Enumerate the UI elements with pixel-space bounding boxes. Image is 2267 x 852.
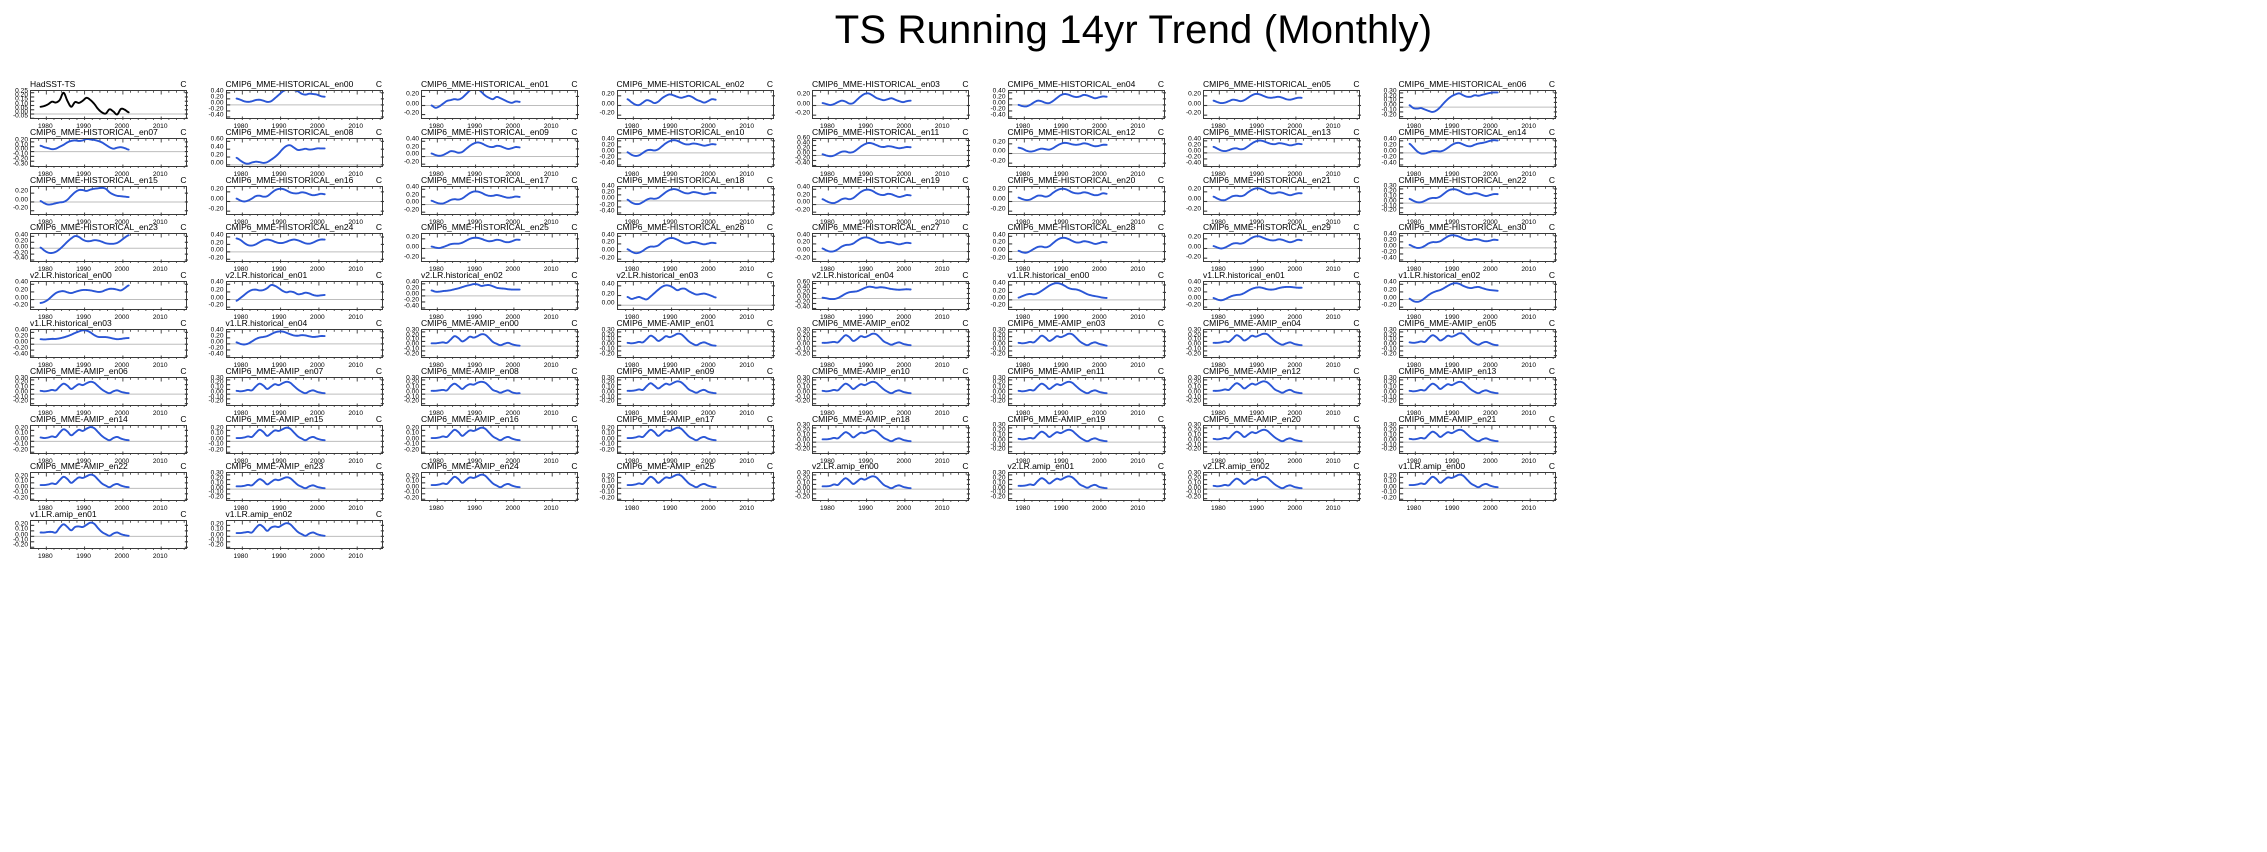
panel-title: CMIP6_MME-HISTORICAL_en29 — [1203, 222, 1331, 232]
panel-title: CMIP6_MME-AMIP_en08 — [421, 366, 519, 376]
y-tick-label: 0.00 — [1188, 148, 1201, 155]
panel-title: HadSST-TS — [30, 79, 75, 89]
y-axis-labels: -0.200.000.200.40 — [786, 233, 810, 262]
plot-area — [1008, 186, 1165, 215]
y-tick-label: -0.40 — [404, 304, 419, 311]
plot-area — [30, 90, 187, 119]
series-line — [1409, 382, 1497, 393]
y-tick-label: 0.00 — [1188, 245, 1201, 252]
panel-unit-label: C — [180, 175, 186, 185]
y-tick-label: 0.40 — [602, 282, 615, 289]
y-tick-label: -0.20 — [599, 111, 614, 118]
panel-unit-label: C — [962, 127, 968, 137]
y-tick-label: 0.30 — [1384, 423, 1397, 430]
y-axis-labels: -0.200.000.20 — [1177, 233, 1201, 262]
plot-area — [1399, 472, 1556, 501]
x-tick-label: 2010 — [739, 505, 754, 512]
y-tick-label: 0.40 — [993, 88, 1006, 95]
y-tick-label: 0.00 — [797, 200, 810, 207]
plot-area — [421, 233, 578, 262]
y-axis-labels: -0.20-0.100.000.100.20 — [395, 472, 419, 501]
y-tick-label: 0.20 — [993, 288, 1006, 295]
x-tick-label: 2010 — [1521, 458, 1536, 465]
panel-title: CMIP6_MME-AMIP_en09 — [617, 366, 715, 376]
x-tick-label: 2010 — [348, 553, 363, 560]
y-tick-label: 0.30 — [1188, 471, 1201, 478]
y-tick-label: 0.40 — [211, 327, 224, 334]
y-tick-label: -0.20 — [1381, 250, 1396, 257]
plot-area — [812, 472, 969, 501]
y-tick-label: 0.20 — [1384, 288, 1397, 295]
y-tick-label: 0.20 — [602, 92, 615, 99]
y-tick-label: 0.20 — [211, 240, 224, 247]
y-tick-label: -0.20 — [208, 255, 223, 262]
y-axis-labels: -0.20-0.100.000.100.200.30 — [1177, 425, 1201, 454]
plot-area — [812, 377, 969, 406]
y-tick-label: 0.20 — [211, 153, 224, 160]
panel-unit-label: C — [1549, 127, 1555, 137]
x-tick-label: 2010 — [1130, 458, 1145, 465]
y-tick-label: 0.40 — [15, 232, 28, 239]
x-tick-label: 2010 — [1521, 410, 1536, 417]
panel-title: CMIP6_MME-AMIP_en19 — [1008, 414, 1106, 424]
x-tick-label: 2000 — [506, 266, 521, 273]
y-tick-label: 0.40 — [797, 185, 810, 192]
panel-unit-label: C — [767, 318, 773, 328]
y-axis-labels: -0.20-0.100.000.100.200.30 — [1373, 90, 1397, 119]
series-line — [1018, 238, 1106, 253]
panel-title: CMIP6_MME-AMIP_en12 — [1203, 366, 1301, 376]
panel-title: CMIP6_MME-HISTORICAL_en20 — [1008, 175, 1136, 185]
y-tick-label: -0.40 — [1381, 256, 1396, 263]
y-tick-label: 0.40 — [1384, 136, 1397, 143]
panel-title: CMIP6_MME-AMIP_en20 — [1203, 414, 1301, 424]
plot-area — [812, 281, 969, 310]
y-tick-label: 0.20 — [602, 142, 615, 149]
panel-unit-label: C — [962, 79, 968, 89]
y-tick-label: 0.20 — [1384, 238, 1397, 245]
series-line — [41, 286, 129, 304]
y-axis-labels: -0.20-0.100.000.100.200.30 — [1373, 329, 1397, 358]
plot-area — [617, 425, 774, 454]
panel-unit-label: C — [1353, 366, 1359, 376]
y-axis-labels: -0.20-0.100.000.100.200.30 — [200, 377, 224, 406]
panel-unit-label: C — [1549, 270, 1555, 280]
panel-unit-label: C — [1353, 175, 1359, 185]
y-axis-labels: -0.200.000.200.40 — [395, 186, 419, 215]
y-tick-label: 0.30 — [211, 375, 224, 382]
x-tick-label: 2010 — [348, 266, 363, 273]
plot-area — [1399, 233, 1556, 262]
plot-area — [1008, 472, 1165, 501]
y-tick-label: -0.20 — [1186, 303, 1201, 310]
panel-title: CMIP6_MME-HISTORICAL_en03 — [812, 79, 940, 89]
panel-unit-label: C — [376, 222, 382, 232]
panel-unit-label: C — [376, 79, 382, 89]
plot-area — [421, 186, 578, 215]
x-tick-label: 2010 — [153, 410, 168, 417]
series-line — [823, 189, 911, 202]
panel-title: CMIP6_MME-AMIP_en21 — [1399, 414, 1497, 424]
y-tick-label: 0.20 — [15, 288, 28, 295]
y-axis-labels: -0.40-0.200.000.200.40 — [200, 329, 224, 358]
x-tick-label: 2010 — [153, 362, 168, 369]
series-line — [41, 427, 129, 440]
panel-title: CMIP6_MME-HISTORICAL_en07 — [30, 127, 158, 137]
series-line — [1018, 429, 1106, 440]
panel-unit-label: C — [571, 175, 577, 185]
plot-area — [1008, 377, 1165, 406]
y-axis-labels: -0.200.000.200.40 — [4, 281, 28, 310]
panel-unit-label: C — [1353, 127, 1359, 137]
y-axis-labels: -0.20-0.100.000.100.200.30 — [591, 329, 615, 358]
x-tick-label: 2010 — [544, 505, 559, 512]
plot-area — [421, 90, 578, 119]
y-tick-label: 0.30 — [602, 328, 615, 335]
x-tick-label: 2000 — [310, 553, 325, 560]
plot-area — [226, 233, 383, 262]
y-axis-labels: -0.20-0.100.000.100.200.30 — [1177, 329, 1201, 358]
y-tick-label: 0.00 — [211, 295, 224, 302]
y-tick-label: 0.20 — [797, 92, 810, 99]
panel-title: CMIP6_MME-AMIP_en15 — [226, 414, 324, 424]
series-line — [823, 430, 911, 441]
y-axis-labels: -0.40-0.200.000.200.40 — [591, 138, 615, 167]
plot-area — [1399, 281, 1556, 310]
y-tick-label: 0.20 — [15, 137, 28, 144]
series-line — [1409, 429, 1497, 440]
panel-unit-label: C — [1158, 175, 1164, 185]
panel-unit-label: C — [571, 366, 577, 376]
panel-title: CMIP6_MME-HISTORICAL_en15 — [30, 175, 158, 185]
y-tick-label: 0.30 — [1188, 375, 1201, 382]
x-tick-label: 2010 — [739, 362, 754, 369]
panel-unit-label: C — [1353, 270, 1359, 280]
y-axis-labels: -0.20-0.100.000.100.200.30 — [982, 329, 1006, 358]
plot-area — [30, 520, 187, 549]
y-tick-label: 0.40 — [1384, 232, 1397, 239]
y-tick-label: 0.20 — [993, 240, 1006, 247]
y-tick-label: 0.60 — [797, 136, 810, 143]
series-line — [432, 475, 520, 488]
y-tick-label: 0.20 — [406, 192, 419, 199]
series-line — [823, 477, 911, 489]
x-tick-label: 2000 — [506, 505, 521, 512]
x-tick-label: 2000 — [1288, 458, 1303, 465]
y-tick-label: -0.20 — [404, 207, 419, 214]
y-tick-label: 0.00 — [406, 152, 419, 159]
y-tick-label: 0.20 — [993, 139, 1006, 146]
x-tick-label: 2010 — [935, 505, 950, 512]
y-tick-label: -0.20 — [13, 303, 28, 310]
y-tick-label: -0.20 — [990, 206, 1005, 213]
y-axis-labels: -0.20-0.100.000.100.200.30 — [786, 425, 810, 454]
panel-unit-label: C — [571, 270, 577, 280]
x-tick-label: 2010 — [1521, 266, 1536, 273]
y-tick-label: 0.20 — [15, 473, 28, 480]
series-line — [236, 382, 324, 393]
y-tick-label: 0.20 — [211, 187, 224, 194]
y-tick-label: 0.00 — [602, 248, 615, 255]
panel-unit-label: C — [376, 414, 382, 424]
plot-area — [1008, 90, 1165, 119]
y-tick-label: 0.30 — [797, 471, 810, 478]
y-tick-label: 0.20 — [406, 144, 419, 151]
series-line — [1409, 475, 1497, 488]
y-tick-label: 0.20 — [211, 288, 224, 295]
panel-unit-label: C — [1158, 127, 1164, 137]
panel-title: CMIP6_MME-HISTORICAL_en05 — [1203, 79, 1331, 89]
panel-title: v1.LR.amip_en02 — [226, 509, 293, 519]
x-tick-label: 2010 — [348, 410, 363, 417]
series-line — [1214, 287, 1302, 300]
y-axis-labels: -0.40-0.200.000.200.40 — [200, 90, 224, 119]
plot-area — [617, 377, 774, 406]
panel-title: v2.LR.amip_en02 — [1203, 461, 1270, 471]
y-tick-label: -0.20 — [795, 255, 810, 262]
y-tick-label: 0.20 — [406, 92, 419, 99]
panel-unit-label: C — [571, 127, 577, 137]
panel-unit-label: C — [571, 222, 577, 232]
y-axis-labels: -0.200.000.200.40 — [1177, 281, 1201, 310]
panel-title: CMIP6_MME-AMIP_en25 — [617, 461, 715, 471]
x-tick-label: 2000 — [310, 505, 325, 512]
y-tick-label: 0.40 — [406, 185, 419, 192]
panel-unit-label: C — [376, 318, 382, 328]
series-line — [1214, 429, 1302, 440]
x-tick-label: 2010 — [935, 314, 950, 321]
y-axis-labels: -0.20-0.100.000.100.200.30 — [395, 377, 419, 406]
panel-title: CMIP6_MME-HISTORICAL_en18 — [617, 175, 745, 185]
y-tick-label: -0.40 — [1186, 160, 1201, 167]
panel-title: CMIP6_MME-HISTORICAL_en01 — [421, 79, 549, 89]
panel-unit-label: C — [180, 366, 186, 376]
plot-area — [1008, 425, 1165, 454]
y-axis-labels: -0.40-0.200.000.200.40 — [4, 329, 28, 358]
plot-area — [226, 90, 383, 119]
x-tick-label: 2010 — [348, 314, 363, 321]
y-tick-label: 0.20 — [797, 192, 810, 199]
y-tick-label: -0.20 — [1186, 254, 1201, 261]
series-line — [627, 189, 715, 204]
x-tick-label: 1990 — [858, 505, 873, 512]
x-tick-label: 2010 — [153, 553, 168, 560]
x-tick-label: 1990 — [467, 505, 482, 512]
y-axis-labels: -0.20-0.100.000.100.20 — [4, 425, 28, 454]
x-tick-label: 2000 — [115, 266, 130, 273]
y-tick-label: -0.40 — [990, 113, 1005, 120]
y-tick-label: 0.20 — [602, 190, 615, 197]
x-tick-label: 1980 — [1015, 505, 1030, 512]
y-tick-label: -0.20 — [1381, 303, 1396, 310]
x-tick-label: 2010 — [1326, 458, 1341, 465]
y-axis-labels: -0.200.000.20 — [591, 90, 615, 119]
y-axis-labels: -0.20-0.100.000.100.200.30 — [4, 377, 28, 406]
panel-unit-label: C — [571, 414, 577, 424]
x-tick-label: 2010 — [544, 362, 559, 369]
y-tick-label: 0.20 — [1384, 473, 1397, 480]
series-line — [823, 382, 911, 393]
y-tick-label: 0.30 — [797, 375, 810, 382]
y-axis-labels: -0.050.000.050.100.150.200.25 — [4, 90, 28, 119]
y-axis-labels: -0.40-0.200.000.200.40 — [591, 186, 615, 215]
plot-area — [30, 186, 187, 215]
y-tick-label: 0.20 — [602, 240, 615, 247]
panel-title: CMIP6_MME-HISTORICAL_en04 — [1008, 79, 1136, 89]
panel-unit-label: C — [180, 318, 186, 328]
x-tick-label: 2000 — [1092, 505, 1107, 512]
y-tick-label: 0.20 — [406, 426, 419, 433]
panel-title: CMIP6_MME-HISTORICAL_en26 — [617, 222, 745, 232]
panel-unit-label: C — [1549, 318, 1555, 328]
x-tick-label: 2010 — [348, 362, 363, 369]
series-line — [432, 142, 520, 155]
y-tick-label: 0.00 — [1384, 295, 1397, 302]
x-tick-label: 2000 — [897, 505, 912, 512]
y-tick-label: 0.20 — [1188, 288, 1201, 295]
plot-area — [812, 90, 969, 119]
y-tick-label: -0.20 — [208, 206, 223, 213]
plot-area — [617, 138, 774, 167]
x-tick-label: 2010 — [935, 410, 950, 417]
panel-title: CMIP6_MME-HISTORICAL_en23 — [30, 222, 158, 232]
panel-title: CMIP6_MME-AMIP_en05 — [1399, 318, 1497, 328]
y-tick-label: -0.20 — [404, 254, 419, 261]
x-tick-label: 2000 — [1483, 505, 1498, 512]
panel-title: CMIP6_MME-AMIP_en17 — [617, 414, 715, 424]
series-line — [41, 475, 129, 488]
y-axis-labels: -0.20-0.100.000.100.20 — [200, 425, 224, 454]
plot-area — [226, 377, 383, 406]
y-tick-label: 0.30 — [993, 471, 1006, 478]
plot-area — [1399, 329, 1556, 358]
y-tick-label: -0.20 — [990, 303, 1005, 310]
x-tick-label: 2010 — [544, 458, 559, 465]
y-tick-label: 0.20 — [1188, 235, 1201, 242]
plot-area — [30, 425, 187, 454]
panel-title: CMIP6_MME-HISTORICAL_en09 — [421, 127, 549, 137]
y-tick-label: 0.00 — [1384, 244, 1397, 251]
x-tick-label: 2010 — [1521, 505, 1536, 512]
y-tick-label: 0.20 — [1384, 142, 1397, 149]
series-line — [1214, 237, 1302, 249]
plot-area — [1008, 281, 1165, 310]
y-axis-labels: -0.40-0.200.000.200.400.60 — [786, 281, 810, 310]
panel-title: CMIP6_MME-HISTORICAL_en30 — [1399, 222, 1527, 232]
y-tick-label: 0.00 — [1188, 295, 1201, 302]
x-tick-label: 2010 — [1326, 410, 1341, 417]
series-line — [1018, 143, 1106, 152]
panel-title: CMIP6_MME-HISTORICAL_en12 — [1008, 127, 1136, 137]
y-tick-label: 0.40 — [602, 184, 615, 191]
y-tick-label: 0.40 — [602, 136, 615, 143]
y-axis-labels: -0.200.000.20 — [4, 186, 28, 215]
series-line — [1214, 334, 1302, 345]
panel-unit-label: C — [1353, 414, 1359, 424]
y-axis-labels: -0.40-0.200.000.200.40 — [1373, 138, 1397, 167]
series-line — [236, 285, 324, 301]
plot-area — [1399, 377, 1556, 406]
y-tick-label: 0.40 — [602, 232, 615, 239]
series-line — [627, 286, 715, 300]
y-tick-label: 0.00 — [602, 148, 615, 155]
y-axis-labels: -0.200.000.20 — [1177, 186, 1201, 215]
series-line — [1214, 477, 1302, 488]
y-tick-label: 0.30 — [1384, 89, 1397, 96]
y-axis-labels: -0.20-0.100.000.100.20 — [395, 425, 419, 454]
plot-area — [617, 329, 774, 358]
x-tick-label: 2010 — [1326, 362, 1341, 369]
panel-title: v2.LR.historical_en00 — [30, 270, 112, 280]
y-axis-labels: -0.20-0.100.000.100.20 — [591, 472, 615, 501]
panel-title: v2.LR.historical_en01 — [226, 270, 308, 280]
series-line — [236, 478, 324, 489]
panel-unit-label: C — [1353, 222, 1359, 232]
x-tick-label: 2000 — [1092, 458, 1107, 465]
x-tick-label: 2010 — [935, 458, 950, 465]
y-axis-labels: 0.000.200.40 — [591, 281, 615, 310]
plot-area — [1203, 377, 1360, 406]
y-tick-label: 0.30 — [406, 328, 419, 335]
x-tick-label: 2010 — [153, 314, 168, 321]
panel-title: CMIP6_MME-HISTORICAL_en11 — [812, 127, 939, 137]
y-tick-label: 0.30 — [1384, 328, 1397, 335]
y-tick-label: 0.25 — [15, 88, 28, 95]
series-line — [236, 145, 324, 164]
y-axis-labels: -0.30-0.20-0.100.000.100.20 — [4, 138, 28, 167]
panel-unit-label: C — [1549, 461, 1555, 471]
panel-unit-label: C — [962, 366, 968, 376]
y-tick-label: -0.20 — [795, 111, 810, 118]
plot-area — [30, 377, 187, 406]
plot-area — [421, 377, 578, 406]
panel-unit-label: C — [571, 318, 577, 328]
x-tick-label: 1990 — [1054, 505, 1069, 512]
x-tick-label: 2010 — [1521, 314, 1536, 321]
panel-unit-label: C — [962, 318, 968, 328]
panel-unit-label: C — [376, 461, 382, 471]
y-tick-label: 0.40 — [1384, 280, 1397, 287]
y-tick-label: 0.60 — [797, 279, 810, 286]
panel-unit-label: C — [767, 79, 773, 89]
panel-title: CMIP6_MME-AMIP_en02 — [812, 318, 910, 328]
panel-unit-label: C — [962, 414, 968, 424]
panel-unit-label: C — [962, 175, 968, 185]
panel-title: v1.LR.historical_en02 — [1399, 270, 1481, 280]
panel-title: CMIP6_MME-AMIP_en01 — [617, 318, 715, 328]
series-line — [432, 334, 520, 346]
series-line — [1018, 477, 1106, 489]
y-tick-label: 0.30 — [993, 328, 1006, 335]
y-tick-label: 0.40 — [211, 145, 224, 152]
y-tick-label: -0.20 — [795, 207, 810, 214]
y-tick-label: 0.20 — [406, 286, 419, 293]
panel-title: CMIP6_MME-HISTORICAL_en16 — [226, 175, 354, 185]
y-tick-label: 0.00 — [797, 101, 810, 108]
panel-unit-label: C — [1158, 318, 1164, 328]
plot-area — [30, 233, 187, 262]
y-tick-label: -0.20 — [208, 303, 223, 310]
y-axis-labels: -0.200.000.200.40 — [591, 233, 615, 262]
y-axis-labels: -0.200.000.20 — [395, 233, 419, 262]
series-line — [236, 239, 324, 246]
x-tick-label: 2010 — [1130, 362, 1145, 369]
series-line — [823, 143, 911, 156]
x-tick-label: 2000 — [1092, 266, 1107, 273]
y-tick-label: -0.20 — [599, 255, 614, 262]
x-tick-label: 1990 — [1445, 505, 1460, 512]
plot-area — [617, 281, 774, 310]
